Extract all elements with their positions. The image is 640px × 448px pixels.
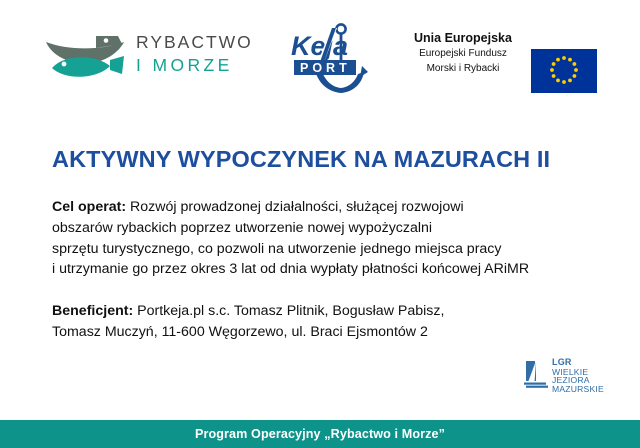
rybactwo-logo-text: RYBACTWO I MORZE <box>136 32 253 75</box>
port-wordmark: PORT <box>300 61 351 75</box>
rybactwo-i-morze-logo: RYBACTWO I MORZE <box>44 26 264 88</box>
i-morze-label: I MORZE <box>136 55 253 75</box>
footer-bar: Program Operacyjny „Rybactwo i Morze” <box>0 420 640 448</box>
eu-subtitle-line2: Morski i Rybacki <box>404 63 522 76</box>
keja-port-logo: Keja PORT <box>284 22 368 98</box>
rybactwo-label: RYBACTWO <box>136 32 253 52</box>
boat-and-fish-icon <box>44 30 130 84</box>
beneficjent-line2: Tomasz Muczyń, 11-600 Węgorzewo, ul. Bra… <box>52 324 428 340</box>
cel-operat-label: Cel operat: <box>52 199 126 215</box>
beneficjent-label: Beneficjent: <box>52 303 133 319</box>
beneficjent-line1: Portkeja.pl s.c. Tomasz Plitnik, Bogusła… <box>133 303 444 319</box>
eu-emblem-block: Unia Europejska Europejski Fundusz Morsk… <box>404 30 604 88</box>
eu-flag-icon <box>531 49 597 93</box>
cel-operat-line1: Rozwój prowadzonej działalności, służące… <box>126 199 464 215</box>
logo-strip: RYBACTWO I MORZE Keja PORT <box>0 18 640 104</box>
body-content: Cel operat: Rozwój prowadzonej działalno… <box>52 197 612 343</box>
poster-page: RYBACTWO I MORZE Keja PORT <box>0 0 640 448</box>
cel-operat-line4: i utrzymanie go przez okres 3 lat od dni… <box>52 261 529 277</box>
cel-operat-line2: obszarów rybackich poprzez utworzenie no… <box>52 220 432 236</box>
beneficjent-paragraph: Beneficjent: Portkeja.pl s.c. Tomasz Pli… <box>52 301 612 343</box>
keja-wordmark: Keja <box>291 31 348 61</box>
lgr-text: LGR WIELKIE JEZIORA MAZURSKIE <box>552 358 604 393</box>
cel-operat-line3: sprzętu turystycznego, co pozwoli na utw… <box>52 241 502 257</box>
eu-subtitle-line1: Europejski Fundusz <box>404 48 522 61</box>
eu-title: Unia Europejska <box>404 30 522 46</box>
eu-text: Unia Europejska Europejski Fundusz Morsk… <box>404 30 522 75</box>
page-title: AKTYWNY WYPOCZYNEK NA MAZURACH II <box>52 146 550 173</box>
sailboat-icon <box>524 359 550 390</box>
lgr-wielkie-jeziora-mazurskie-logo: LGR WIELKIE JEZIORA MAZURSKIE <box>524 358 616 394</box>
cel-operat-paragraph: Cel operat: Rozwój prowadzonej działalno… <box>52 197 612 280</box>
lgr-line4: MAZURSKIE <box>552 385 604 394</box>
footer-label: Program Operacyjny „Rybactwo i Morze” <box>195 427 445 441</box>
